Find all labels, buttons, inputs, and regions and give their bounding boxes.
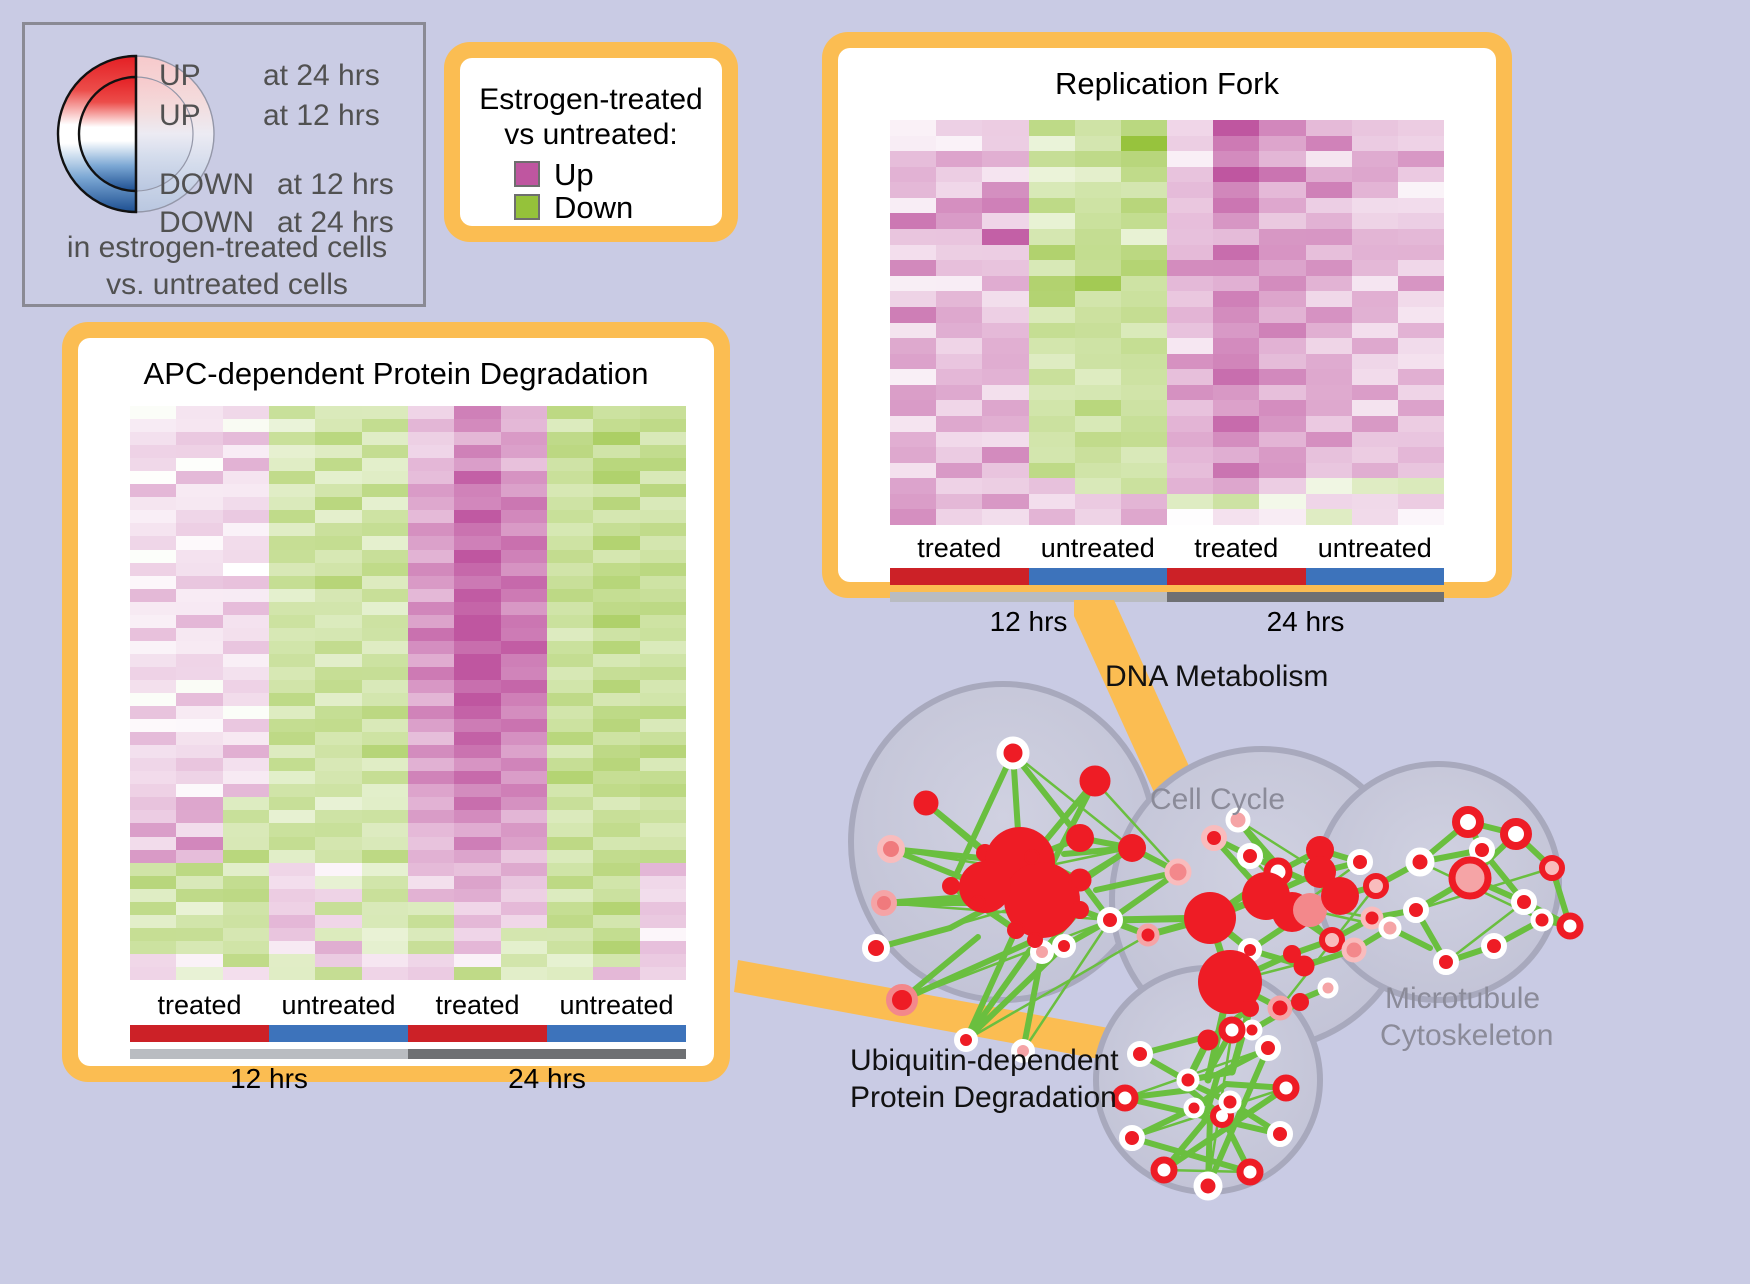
heatmap-cell <box>1121 509 1167 525</box>
heatmap-cell <box>454 419 500 432</box>
heatmap-cell <box>1213 167 1259 183</box>
heatmap-cell <box>1352 151 1398 167</box>
heatmap-cell <box>223 550 269 563</box>
heatmap-cell <box>454 536 500 549</box>
heatmap-cell <box>362 471 408 484</box>
axis-time-bar-segment <box>1167 592 1444 602</box>
heatmap-cell <box>223 928 269 941</box>
heatmap-cell <box>501 680 547 693</box>
heatmap-cell <box>223 967 269 980</box>
heatmap-apc <box>130 406 686 980</box>
axis-time-label: 24 hrs <box>408 1063 686 1095</box>
heatmap-cell <box>547 406 593 419</box>
heatmap-cell <box>315 706 361 719</box>
panel-title-replication-fork: Replication Fork <box>838 66 1496 102</box>
heatmap-cell <box>547 458 593 471</box>
heatmap-cell <box>176 784 222 797</box>
heatmap-cell <box>1398 385 1444 401</box>
heatmap-cell <box>936 120 982 136</box>
heatmap-cell <box>1167 478 1213 494</box>
heatmap-cell <box>593 458 639 471</box>
heatmap-cell <box>362 523 408 536</box>
heatmap-cell <box>1075 385 1121 401</box>
heatmap-cell <box>547 876 593 889</box>
heatmap-cell <box>1259 182 1305 198</box>
heatmap-cell <box>315 915 361 928</box>
heatmap-cell <box>315 589 361 602</box>
heatmap-cell <box>593 850 639 863</box>
heatmap-cell <box>223 510 269 523</box>
heatmap-cell <box>269 523 315 536</box>
heatmap-cell <box>640 550 686 563</box>
heatmap-cell <box>315 550 361 563</box>
heatmap-cell <box>593 602 639 615</box>
heatmap-cell <box>315 810 361 823</box>
heatmap-cell <box>130 641 176 654</box>
heatmap-cell <box>408 510 454 523</box>
heatmap-cell <box>593 667 639 680</box>
heatmap-cell <box>593 810 639 823</box>
heatmap-cell <box>454 497 500 510</box>
heatmap-cell <box>890 245 936 261</box>
heatmap-cell <box>1398 198 1444 214</box>
heatmap-cell <box>1029 198 1075 214</box>
heatmap-cell <box>362 954 408 967</box>
heatmap-cell <box>640 628 686 641</box>
heatmap-cell <box>408 706 454 719</box>
heatmap-cell <box>1121 307 1167 323</box>
heatmap-cell <box>547 719 593 732</box>
heatmap-cell <box>1167 151 1213 167</box>
heatmap-cell <box>269 771 315 784</box>
heatmap-cell <box>176 602 222 615</box>
heatmap-cell <box>1075 276 1121 292</box>
legend-label-up: Up <box>554 159 594 190</box>
heatmap-cell <box>454 732 500 745</box>
heatmap-cell <box>176 406 222 419</box>
heatmap-legend-card: Estrogen-treated vs untreated: Up Down <box>444 42 738 242</box>
heatmap-cell <box>269 510 315 523</box>
legend-item-up: Up <box>514 159 722 190</box>
heatmap-cell <box>1306 291 1352 307</box>
heatmap-cell <box>1167 494 1213 510</box>
heatmap-cell <box>982 369 1028 385</box>
heatmap-cell <box>593 615 639 628</box>
heatmap-cell <box>315 641 361 654</box>
heatmap-cell <box>130 732 176 745</box>
heatmap-cell <box>501 445 547 458</box>
heatmap-cell <box>547 928 593 941</box>
heatmap-cell <box>501 484 547 497</box>
heatmap-cell <box>408 902 454 915</box>
heatmap-cell <box>1075 307 1121 323</box>
heatmap-cell <box>1352 354 1398 370</box>
heatmap-cell <box>936 307 982 323</box>
heatmap-cell <box>936 260 982 276</box>
axis-group-label: treated <box>408 990 547 1021</box>
heatmap-cell <box>547 954 593 967</box>
heatmap-cell <box>176 615 222 628</box>
heatmap-cell <box>269 563 315 576</box>
heatmap-cell <box>1075 167 1121 183</box>
heatmap-cell <box>501 889 547 902</box>
heatmap-cell <box>1075 136 1121 152</box>
heatmap-cell <box>362 941 408 954</box>
heatmap-cell <box>1167 323 1213 339</box>
heatmap-cell <box>269 784 315 797</box>
axis-group-bar <box>1029 568 1168 585</box>
heatmap-cell <box>982 198 1028 214</box>
heatmap-cell <box>982 307 1028 323</box>
heatmap-cell <box>269 680 315 693</box>
heatmap-cell <box>593 876 639 889</box>
heatmap-cell <box>454 628 500 641</box>
heatmap-cell <box>454 823 500 836</box>
heatmap-cell <box>408 589 454 602</box>
heatmap-cell <box>130 589 176 602</box>
heatmap-cell <box>640 797 686 810</box>
heatmap-cell <box>1167 416 1213 432</box>
heatmap-cell <box>408 445 454 458</box>
heatmap-cell <box>547 445 593 458</box>
heatmap-cell <box>640 954 686 967</box>
heatmap-cell <box>936 136 982 152</box>
heatmap-cell <box>640 876 686 889</box>
heatmap-cell <box>269 928 315 941</box>
heatmap-cell <box>176 432 222 445</box>
heatmap-cell <box>362 889 408 902</box>
heatmap-cell <box>936 432 982 448</box>
heatmap-cell <box>408 693 454 706</box>
heatmap-cell <box>130 628 176 641</box>
heatmap-cell <box>501 967 547 980</box>
heatmap-cell <box>1167 167 1213 183</box>
axis-time-bar-segment <box>408 1049 686 1059</box>
heatmap-cell <box>130 771 176 784</box>
heatmap-cell <box>640 536 686 549</box>
heatmap-cell <box>593 889 639 902</box>
heatmap-cell <box>640 563 686 576</box>
heatmap-cell <box>547 563 593 576</box>
heatmap-cell <box>176 745 222 758</box>
heatmap-cell <box>640 719 686 732</box>
heatmap-cell <box>640 654 686 667</box>
heatmap-cell <box>269 484 315 497</box>
heatmap-cell <box>362 850 408 863</box>
heatmap-cell <box>1352 323 1398 339</box>
panel-apc-degradation: APC-dependent Protein Degradation treate… <box>62 322 730 1082</box>
heatmap-cell <box>1029 260 1075 276</box>
heatmap-cell <box>640 810 686 823</box>
heatmap-cell <box>269 497 315 510</box>
heatmap-cell <box>269 850 315 863</box>
heatmap-cell <box>315 941 361 954</box>
heatmap-cell <box>362 602 408 615</box>
heatmap-cell <box>176 915 222 928</box>
heatmap-cell <box>640 510 686 523</box>
cluster-label-cell-cycle: Cell Cycle <box>1150 783 1285 817</box>
axis-treatment-bar-rf <box>890 568 1444 585</box>
heatmap-cell <box>269 876 315 889</box>
heatmap-cell <box>315 406 361 419</box>
heatmap-cell <box>890 167 936 183</box>
heatmap-cell <box>1029 432 1075 448</box>
heatmap-cell <box>501 758 547 771</box>
cluster-label-ubiquitin-line2: Protein Degradation <box>850 1081 1117 1115</box>
heatmap-cell <box>1398 229 1444 245</box>
axis-group-bar <box>1306 568 1445 585</box>
heatmap-cell <box>1029 463 1075 479</box>
heatmap-cell <box>1352 213 1398 229</box>
heatmap-cell <box>176 458 222 471</box>
heatmap-cell <box>1306 260 1352 276</box>
heatmap-cell <box>223 419 269 432</box>
heatmap-cell <box>130 615 176 628</box>
heatmap-cell <box>315 510 361 523</box>
heatmap-cell <box>936 447 982 463</box>
heatmap-cell <box>982 354 1028 370</box>
heatmap-cell <box>936 229 982 245</box>
heatmap-cell <box>176 797 222 810</box>
heatmap-cell <box>501 850 547 863</box>
heatmap-cell <box>1075 229 1121 245</box>
heatmap-cell <box>362 745 408 758</box>
heatmap-cell <box>1398 291 1444 307</box>
heatmap-cell <box>408 876 454 889</box>
heatmap-cell <box>1121 494 1167 510</box>
heatmap-cell <box>1352 167 1398 183</box>
heatmap-cell <box>315 536 361 549</box>
heatmap-cell <box>547 484 593 497</box>
heatmap-cell <box>890 338 936 354</box>
heatmap-cell <box>547 641 593 654</box>
heatmap-cell <box>130 810 176 823</box>
heatmap-cell <box>269 823 315 836</box>
heatmap-cell <box>640 823 686 836</box>
heatmap-cell <box>176 654 222 667</box>
heatmap-cell <box>1213 509 1259 525</box>
heatmap-cell <box>1167 369 1213 385</box>
heatmap-cell <box>982 494 1028 510</box>
heatmap-cell <box>269 706 315 719</box>
heatmap-cell <box>362 823 408 836</box>
heatmap-cell <box>1029 478 1075 494</box>
heatmap-cell <box>501 615 547 628</box>
heatmap-cell <box>223 693 269 706</box>
heatmap-cell <box>547 628 593 641</box>
heatmap-cell <box>1029 213 1075 229</box>
heatmap-cell <box>1029 447 1075 463</box>
key-time-up-12: at 12 hrs <box>263 99 380 133</box>
heatmap-cell <box>1075 338 1121 354</box>
heatmap-cell <box>269 458 315 471</box>
heatmap-cell <box>315 602 361 615</box>
heatmap-cell <box>176 850 222 863</box>
heatmap-cell <box>176 954 222 967</box>
heatmap-cell <box>408 602 454 615</box>
heatmap-cell <box>640 458 686 471</box>
heatmap-cell <box>315 680 361 693</box>
heatmap-cell <box>890 151 936 167</box>
heatmap-cell <box>593 550 639 563</box>
heatmap-cell <box>593 654 639 667</box>
axis-group-bar <box>1167 568 1306 585</box>
heatmap-cell <box>1213 291 1259 307</box>
heatmap-cell <box>223 458 269 471</box>
heatmap-cell <box>890 509 936 525</box>
heatmap-cell <box>501 497 547 510</box>
heatmap-cell <box>1075 291 1121 307</box>
heatmap-cell <box>593 523 639 536</box>
heatmap-cell <box>269 654 315 667</box>
heatmap-cell <box>408 536 454 549</box>
heatmap-cell <box>1075 447 1121 463</box>
color-key-box: UP at 24 hrs UP at 12 hrs DOWN at 12 hrs… <box>22 22 426 307</box>
heatmap-cell <box>1306 338 1352 354</box>
heatmap-cell <box>501 915 547 928</box>
heatmap-cell <box>1167 307 1213 323</box>
heatmap-cell <box>130 876 176 889</box>
heatmap-cell <box>408 823 454 836</box>
heatmap-cell <box>362 837 408 850</box>
heatmap-cell <box>454 602 500 615</box>
heatmap-cell <box>1398 447 1444 463</box>
heatmap-cell <box>1398 120 1444 136</box>
heatmap-cell <box>176 928 222 941</box>
heatmap-cell <box>1259 400 1305 416</box>
heatmap-cell <box>269 941 315 954</box>
legend-label-down: Down <box>554 192 633 223</box>
heatmap-cell <box>362 563 408 576</box>
heatmap-cell <box>1259 494 1305 510</box>
heatmap-legend-title-line2: vs untreated: <box>460 117 722 152</box>
heatmap-cell <box>1213 385 1259 401</box>
heatmap-cell <box>1352 198 1398 214</box>
heatmap-cell <box>547 680 593 693</box>
heatmap-cell <box>176 837 222 850</box>
heatmap-cell <box>501 732 547 745</box>
heatmap-cell <box>454 523 500 536</box>
panel-title-apc: APC-dependent Protein Degradation <box>78 356 714 392</box>
heatmap-cell <box>1121 167 1167 183</box>
heatmap-cell <box>890 213 936 229</box>
heatmap-cell <box>640 732 686 745</box>
heatmap-cell <box>1075 354 1121 370</box>
heatmap-cell <box>1259 276 1305 292</box>
heatmap-cell <box>1029 416 1075 432</box>
heatmap-legend-title: Estrogen-treated vs untreated: <box>460 82 722 153</box>
heatmap-cell <box>547 667 593 680</box>
heatmap-cell <box>269 902 315 915</box>
heatmap-cell <box>1259 463 1305 479</box>
heatmap-cell <box>454 967 500 980</box>
heatmap-cell <box>223 902 269 915</box>
heatmap-cell <box>1352 136 1398 152</box>
heatmap-cell <box>1259 291 1305 307</box>
heatmap-cell <box>593 863 639 876</box>
axis-group-labels-rf: treateduntreatedtreateduntreated <box>890 533 1444 564</box>
heatmap-cell <box>176 445 222 458</box>
heatmap-cell <box>362 758 408 771</box>
heatmap-cell <box>130 680 176 693</box>
heatmap-legend-items: Up Down <box>460 159 722 223</box>
heatmap-cell <box>315 445 361 458</box>
heatmap-cell <box>1075 369 1121 385</box>
heatmap-cell <box>408 497 454 510</box>
heatmap-cell <box>223 615 269 628</box>
heatmap-cell <box>176 706 222 719</box>
heatmap-cell <box>315 615 361 628</box>
heatmap-cell <box>1352 463 1398 479</box>
heatmap-cell <box>1259 213 1305 229</box>
heatmap-cell <box>1398 260 1444 276</box>
heatmap-cell <box>1259 260 1305 276</box>
heatmap-cell <box>315 928 361 941</box>
heatmap-cell <box>982 432 1028 448</box>
heatmap-cell <box>176 628 222 641</box>
heatmap-replication-fork <box>890 120 1444 525</box>
heatmap-cell <box>547 615 593 628</box>
heatmap-cell <box>593 837 639 850</box>
heatmap-cell <box>130 784 176 797</box>
heatmap-cell <box>593 680 639 693</box>
heatmap-cell <box>362 771 408 784</box>
heatmap-cell <box>130 745 176 758</box>
axis-group-bar <box>408 1025 547 1042</box>
heatmap-cell <box>454 745 500 758</box>
heatmap-cell <box>547 523 593 536</box>
cluster-label-dna-metabolism: DNA Metabolism <box>1105 660 1328 694</box>
heatmap-cell <box>982 213 1028 229</box>
heatmap-cell <box>1121 338 1167 354</box>
heatmap-cell <box>223 445 269 458</box>
heatmap-cell <box>362 680 408 693</box>
heatmap-cell <box>1352 494 1398 510</box>
heatmap-cell <box>547 837 593 850</box>
heatmap-cell <box>593 445 639 458</box>
heatmap-cell <box>1075 400 1121 416</box>
axis-group-label: untreated <box>1306 533 1445 564</box>
heatmap-cell <box>1259 447 1305 463</box>
heatmap-cell <box>501 902 547 915</box>
heatmap-cell <box>501 810 547 823</box>
heatmap-cell <box>1029 291 1075 307</box>
heatmap-cell <box>501 863 547 876</box>
heatmap-cell <box>640 758 686 771</box>
heatmap-cell <box>223 602 269 615</box>
heatmap-cell <box>890 260 936 276</box>
heatmap-cell <box>593 641 639 654</box>
heatmap-cell <box>936 151 982 167</box>
heatmap-cell <box>315 432 361 445</box>
heatmap-cell <box>1029 307 1075 323</box>
heatmap-cell <box>408 784 454 797</box>
heatmap-cell <box>408 576 454 589</box>
heatmap-cell <box>176 876 222 889</box>
heatmap-cell <box>130 693 176 706</box>
heatmap-cell <box>1352 416 1398 432</box>
heatmap-cell <box>269 889 315 902</box>
heatmap-cell <box>223 850 269 863</box>
heatmap-cell <box>593 419 639 432</box>
heatmap-cell <box>1398 276 1444 292</box>
heatmap-cell <box>223 563 269 576</box>
heatmap-cell <box>408 745 454 758</box>
heatmap-cell <box>362 432 408 445</box>
heatmap-cell <box>1259 136 1305 152</box>
heatmap-cell <box>130 432 176 445</box>
heatmap-cell <box>982 291 1028 307</box>
